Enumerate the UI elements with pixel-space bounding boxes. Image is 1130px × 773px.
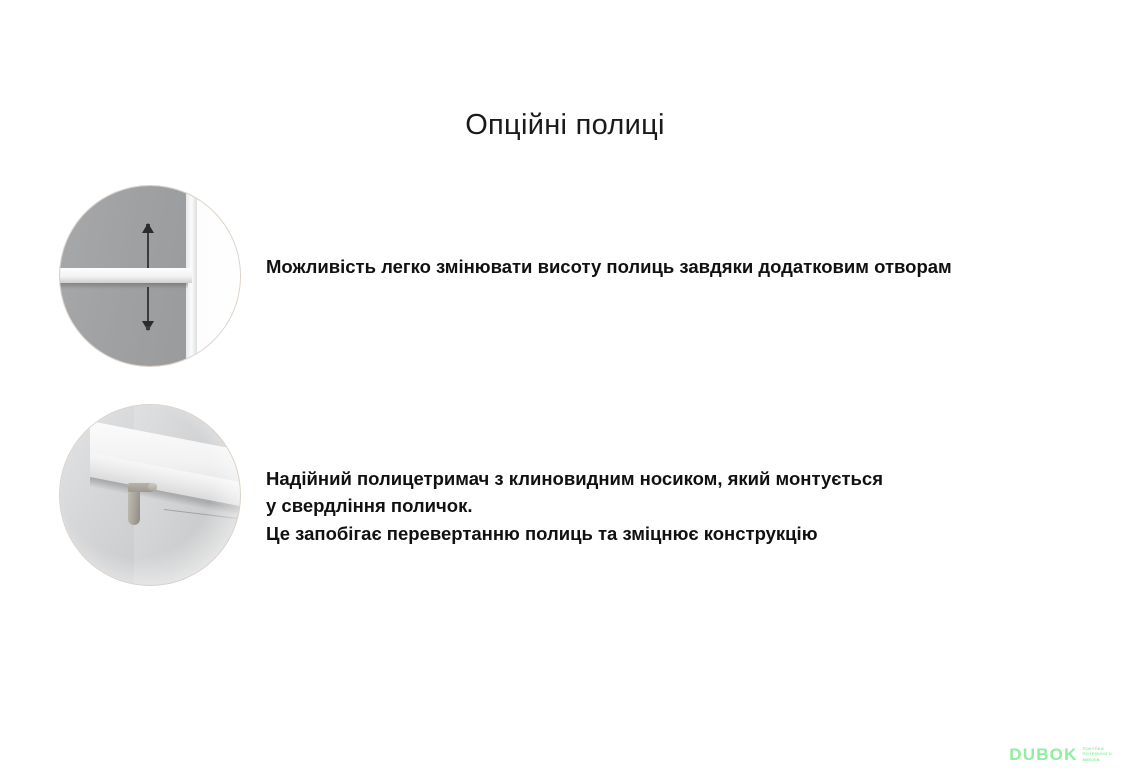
brand-logo: DUBOK ПОКУПКИ ПОТРІБНОГО МЕБЛІВ bbox=[1009, 746, 1112, 763]
brand-tagline: ПОКУПКИ ПОТРІБНОГО МЕБЛІВ bbox=[1083, 747, 1112, 763]
shelf-shadow bbox=[60, 283, 188, 289]
adjustable-shelf-photo bbox=[60, 186, 240, 366]
page-title: Опційні полиці bbox=[0, 108, 1130, 143]
shelf-board bbox=[60, 268, 192, 283]
arrow-up-icon bbox=[147, 232, 149, 268]
feature-block-shelf-holder bbox=[60, 405, 240, 585]
feature-text-adjustable-height: Можливість легко змінювати висоту полиць… bbox=[266, 253, 1116, 280]
photo-vignette bbox=[60, 405, 240, 585]
brand-tagline-line-3: МЕБЛІВ bbox=[1083, 758, 1112, 763]
height-range-dot-bottom bbox=[146, 326, 150, 330]
shelf-holder-photo bbox=[60, 405, 240, 585]
brand-wordmark: DUBOK bbox=[1009, 746, 1077, 763]
feature-block-adjustable-height bbox=[60, 186, 240, 366]
cabinet-panel-face bbox=[197, 186, 240, 366]
arrow-down-icon bbox=[147, 287, 149, 322]
feature-text-shelf-holder: Надійний полицетримач з клиновидним носи… bbox=[266, 465, 1066, 547]
